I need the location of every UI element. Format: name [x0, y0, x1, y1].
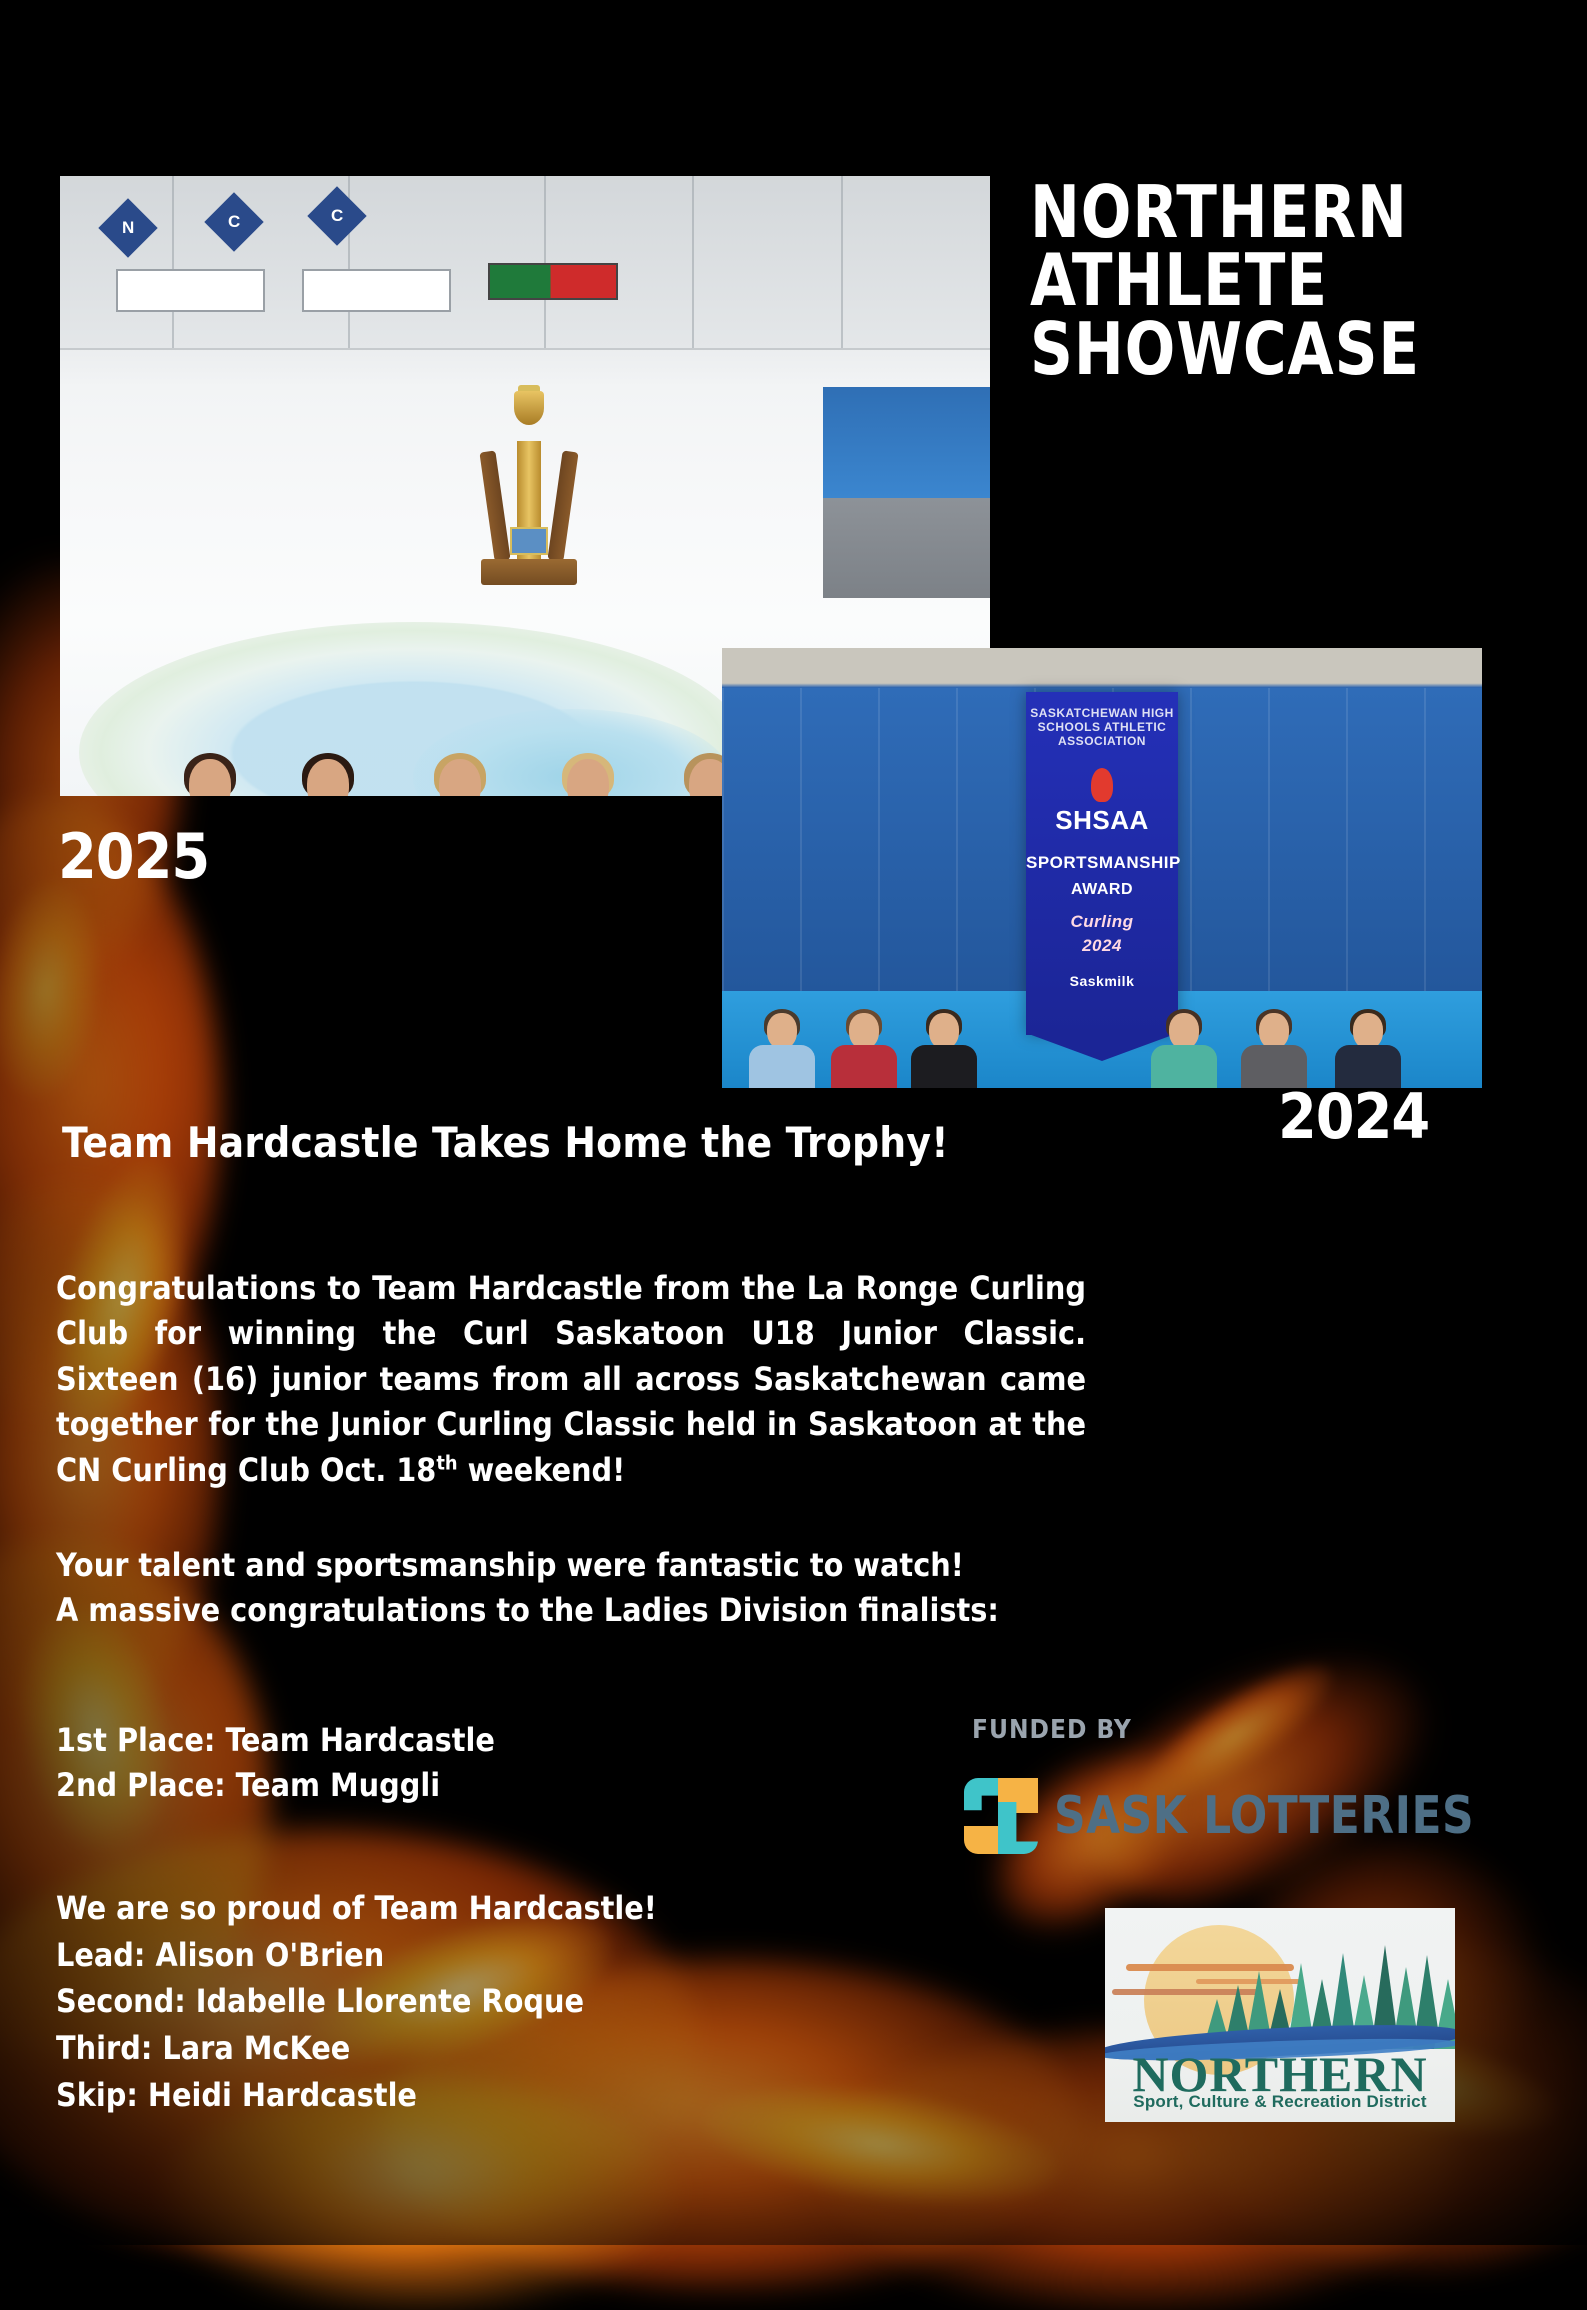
headline: Team Hardcastle Takes Home the Trophy! [62, 1118, 1182, 1167]
northern-tagline: Sport, Culture & Recreation District [1105, 2092, 1455, 2112]
sask-lotteries-wordmark: SASK LOTTERIES [1054, 1786, 1474, 1846]
placements-block: 1st Place: Team Hardcastle 2nd Place: Te… [56, 1718, 756, 1809]
banner-award-line1: SPORTSMANSHIP [1026, 853, 1178, 873]
talent-block: Your talent and sportsmanship were fanta… [56, 1543, 1056, 1634]
finalists-line: A massive congratulations to the Ladies … [56, 1588, 1056, 1633]
banner-sport: Curling [1026, 912, 1178, 932]
banner-top-text: SASKATCHEWAN HIGH SCHOOLS ATHLETIC ASSOC… [1026, 706, 1178, 748]
roster-block: We are so proud of Team Hardcastle! Lead… [56, 1885, 856, 2119]
roster-third: Third: Lara McKee [56, 2025, 856, 2072]
roster-lead: Lead: Alison O'Brien [56, 1932, 856, 1979]
funded-by-label: FUNDED BY [972, 1715, 1132, 1745]
shsaa-banner: SASKATCHEWAN HIGH SCHOOLS ATHLETIC ASSOC… [1026, 692, 1178, 1035]
banner-org: SHSAA [1026, 805, 1178, 836]
year-label-2025: 2025 [58, 820, 209, 893]
sask-lotteries-mark-icon [964, 1778, 1038, 1854]
place-second: 2nd Place: Team Muggli [56, 1763, 756, 1808]
proud-line: We are so proud of Team Hardcastle! [56, 1885, 856, 1932]
banner-award-line2: AWARD [1026, 881, 1178, 899]
page-title: NORTHERN ATHLETE SHOWCASE [1030, 178, 1490, 383]
talent-line: Your talent and sportsmanship were fanta… [56, 1543, 1056, 1588]
paragraph-ordinal-suffix: th [436, 1451, 457, 1474]
northern-district-logo: NORTHERN Sport, Culture & Recreation Dis… [1105, 1908, 1455, 2122]
body-paragraph: Congratulations to Team Hardcastle from … [56, 1266, 1086, 1493]
roster-skip: Skip: Heidi Hardcastle [56, 2072, 856, 2119]
place-first: 1st Place: Team Hardcastle [56, 1718, 756, 1763]
paragraph-part2: weekend! [458, 1451, 626, 1489]
sask-lotteries-logo: SASK LOTTERIES [964, 1778, 1501, 1854]
banner-year: 2024 [1026, 936, 1178, 956]
photo-banner-2024: SASKATCHEWAN HIGH SCHOOLS ATHLETIC ASSOC… [722, 648, 1482, 1088]
year-label-2024: 2024 [1278, 1080, 1429, 1153]
trophy-icon [479, 385, 579, 585]
banner-sponsor: Saskmilk [1026, 973, 1178, 989]
roster-second: Second: Idabelle Llorente Roque [56, 1978, 856, 2025]
